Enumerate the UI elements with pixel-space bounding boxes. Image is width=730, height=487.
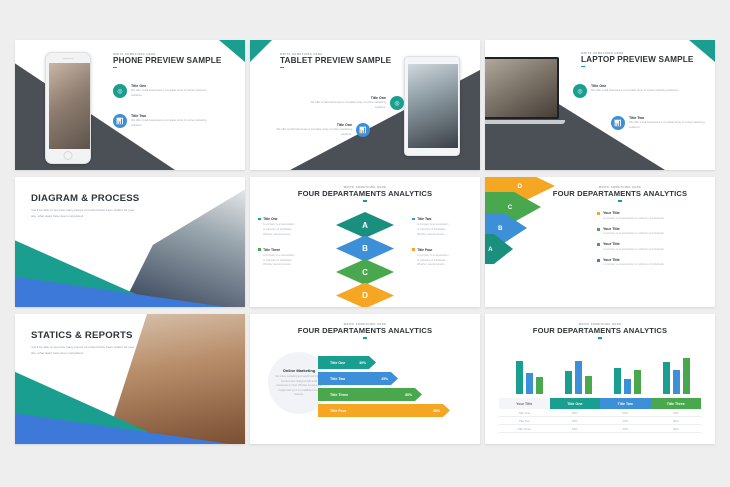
funnel-bar[interactable]: Title Two 45% xyxy=(318,372,398,385)
slide-header: STATICS & REPORTS You'll be able to see … xyxy=(31,330,153,356)
page-title: LAPTOP PREVIEW SAMPLE xyxy=(581,55,694,64)
bar-series-2 xyxy=(673,370,681,394)
table-cell: 50% xyxy=(550,409,601,416)
bullet-line: Whether natural persons. xyxy=(263,263,320,268)
legend-desc: A company is an association or collectio… xyxy=(603,232,664,235)
right-items: Title Two A company is an association or… xyxy=(412,217,474,278)
bar-series-1 xyxy=(663,362,671,394)
bar-value: 45% xyxy=(381,377,388,381)
item-title: Title Two xyxy=(417,217,431,221)
bar-label: Title Three xyxy=(330,393,348,397)
bar-series-2 xyxy=(575,361,583,394)
legend-item[interactable]: Your Title A company is an association o… xyxy=(597,242,705,251)
diamond-d[interactable]: D xyxy=(336,283,394,308)
bar-group xyxy=(516,361,544,394)
photo-woman xyxy=(49,63,90,149)
legend-desc: A company is an association or collectio… xyxy=(603,217,664,220)
table-cell: 30% xyxy=(550,417,601,424)
phone-home-button xyxy=(64,151,73,160)
bar-value: 80% xyxy=(433,409,440,413)
globe-icon: ◎ xyxy=(390,96,404,110)
table-header-cell: Title Two xyxy=(600,398,651,409)
row-label: Title Three xyxy=(499,425,550,432)
feature-desc: We offer small businesses a complete arr… xyxy=(131,119,215,128)
table-cell: 70% xyxy=(651,409,702,416)
slide-header: WRITE SOMETHING HERE PHONE PREVIEW SAMPL… xyxy=(113,53,222,68)
slide-arrows[interactable]: D C B A WRITE SOMETHING HERE FOUR DEPART… xyxy=(485,177,715,307)
slide-diagram-process[interactable]: DIAGRAM & PROCESS You'll be able to see … xyxy=(15,177,245,307)
item-title: Title Three xyxy=(263,248,280,252)
feature-item[interactable]: ◎ Title One We offer small businesses a … xyxy=(113,84,215,98)
globe-icon: ◎ xyxy=(573,84,587,98)
item-body: A company is an association or collectio… xyxy=(412,223,474,238)
feature-title: Title Two xyxy=(131,114,215,118)
accent-underline xyxy=(598,337,602,339)
page-title: FOUR DEPARTAMENTS ANALYTICS xyxy=(250,189,480,198)
slide-tablet-preview[interactable]: WRITE SOMETHING HERE TABLET PREVIEW SAMP… xyxy=(250,40,480,170)
page-title: TABLET PREVIEW SAMPLE xyxy=(280,56,391,65)
feature-title: Title One xyxy=(268,123,352,127)
left-items: Title One A company is an association or… xyxy=(258,217,320,278)
row-label: Title One xyxy=(499,409,550,416)
table-header-row: Your Title Title One Title Two Title Thr… xyxy=(499,398,701,409)
bullet-line: Whether natural persons. xyxy=(263,233,320,238)
feature-item[interactable]: ◎ Title One We offer small businesses a … xyxy=(573,84,685,98)
legend-desc: A company is an association or collectio… xyxy=(603,248,664,251)
table-cell: 40% xyxy=(651,425,702,432)
list-item[interactable]: Title Three A company is an association … xyxy=(258,248,320,269)
tablet-screen xyxy=(408,64,458,148)
teal-corner xyxy=(250,40,272,62)
laptop-base xyxy=(485,120,565,124)
funnel-bar[interactable]: Title Three 60% xyxy=(318,388,422,401)
table-header-cell: Title Three xyxy=(651,398,702,409)
feature-desc: We offer small businesses a complete arr… xyxy=(629,121,709,130)
legend-title: Your Title xyxy=(603,211,664,215)
chart-icon: 📊 xyxy=(113,114,127,128)
phone-mockup xyxy=(45,52,91,164)
bar-label: Title Two xyxy=(330,377,345,381)
photo-man xyxy=(408,64,458,148)
list-item[interactable]: Title Four A company is an association o… xyxy=(412,248,474,269)
slide-header: WRITE SOMETHING HERE FOUR DEPARTAMENTS A… xyxy=(250,323,480,339)
arrow-label: D xyxy=(518,183,522,190)
legend-swatch xyxy=(597,259,600,262)
phone-screen xyxy=(49,63,90,149)
diamond-stack: A B C D xyxy=(336,212,394,306)
page-title: FOUR DEPARTAMENTS ANALYTICS xyxy=(525,189,715,198)
laptop-lid xyxy=(485,57,559,119)
bullet-square xyxy=(412,248,415,251)
funnel-bars: Title One 30% Title Two 45% Title Three … xyxy=(318,356,450,420)
table-row: Title One 50% 50% 70% xyxy=(499,409,701,417)
slide-deck: WRITE SOMETHING HERE PHONE PREVIEW SAMPL… xyxy=(0,0,730,487)
legend-item[interactable]: Your Title A company is an association o… xyxy=(597,258,705,267)
bar-value: 60% xyxy=(405,393,412,397)
table-cell: 30% xyxy=(651,417,702,424)
slide-diamonds[interactable]: WRITE SOMETHING HERE FOUR DEPARTAMENTS A… xyxy=(250,177,480,307)
tablet-mockup xyxy=(404,56,460,156)
legend-title: Your Title xyxy=(603,227,664,231)
bar-series-1 xyxy=(516,361,524,394)
circle-title: Online Marketing xyxy=(283,368,315,373)
laptop-screen xyxy=(485,59,557,117)
bullet-line: Whether natural persons. xyxy=(417,233,474,238)
feature-desc: We offer small businesses a complete arr… xyxy=(131,89,215,98)
table-cell: 60% xyxy=(550,425,601,432)
slide-funnel[interactable]: WRITE SOMETHING HERE FOUR DEPARTAMENTS A… xyxy=(250,314,480,444)
chart-icon: 📊 xyxy=(356,123,370,137)
bar-series-1 xyxy=(614,368,622,394)
page-title: FOUR DEPARTAMENTS ANALYTICS xyxy=(485,326,715,335)
arrow-label: B xyxy=(498,225,502,232)
table-cell: 20% xyxy=(600,417,651,424)
bar-series-3 xyxy=(536,377,544,394)
feature-title: Title One xyxy=(591,84,679,88)
bar-series-2 xyxy=(526,373,534,394)
phone-speaker xyxy=(63,58,74,59)
slide-header: WRITE SOMETHING HERE FOUR DEPARTAMENTS A… xyxy=(485,323,715,339)
accent-underline xyxy=(363,200,367,202)
legend-desc: A company is an association or collectio… xyxy=(603,263,664,266)
feature-title: Title One xyxy=(131,84,215,88)
list-item[interactable]: Title One A company is an association or… xyxy=(258,217,320,238)
bar-label: Title Four xyxy=(330,409,346,413)
table-row: Title Two 30% 20% 30% xyxy=(499,417,701,425)
arrow-label: A xyxy=(488,246,492,253)
accent-underline xyxy=(113,67,117,69)
legend: Your Title A company is an association o… xyxy=(597,211,705,273)
table-header-cell: Your Title xyxy=(499,398,550,409)
body-text: You'll be able to see how many pieces of… xyxy=(31,345,139,356)
circle-body: Our online marketing and search self-cha… xyxy=(275,375,323,397)
bar-group xyxy=(614,368,642,394)
accent-underline xyxy=(581,66,585,68)
funnel-bar[interactable]: Title Four 80% xyxy=(318,404,450,417)
bar-value: 30% xyxy=(359,361,366,365)
legend-title: Your Title xyxy=(603,258,664,262)
data-table: Your Title Title One Title Two Title Thr… xyxy=(499,398,701,433)
diamond-a[interactable]: A xyxy=(336,212,394,238)
laptop-mockup xyxy=(485,57,559,124)
page-title: DIAGRAM & PROCESS xyxy=(31,193,161,204)
legend-item[interactable]: Your Title A company is an association o… xyxy=(597,211,705,220)
page-title: FOUR DEPARTAMENTS ANALYTICS xyxy=(250,326,480,335)
legend-swatch xyxy=(597,228,600,231)
bar-label: Title One xyxy=(330,361,345,365)
item-body: A company is an association or collectio… xyxy=(258,223,320,238)
page-title: STATICS & REPORTS xyxy=(31,330,153,341)
bar-group xyxy=(663,358,691,394)
teal-corner xyxy=(219,40,245,62)
table-cell: 40% xyxy=(600,425,651,432)
bar-series-3 xyxy=(634,370,642,394)
legend-item[interactable]: Your Title A company is an association o… xyxy=(597,227,705,236)
feature-item[interactable]: 📊 Title Two We offer small businesses a … xyxy=(113,114,215,128)
page-title: PHONE PREVIEW SAMPLE xyxy=(113,56,222,65)
slide-statics-reports[interactable]: STATICS & REPORTS You'll be able to see … xyxy=(15,314,245,444)
feature-desc: We offer small businesses a complete arr… xyxy=(302,101,386,110)
slide-bar-chart-table[interactable]: WRITE SOMETHING HERE FOUR DEPARTAMENTS A… xyxy=(485,314,715,444)
bullet-square xyxy=(258,248,261,251)
chart-icon: 📊 xyxy=(611,116,625,130)
bar-series-1 xyxy=(565,371,573,394)
feature-desc: We offer small businesses a complete arr… xyxy=(268,128,352,137)
legend-swatch xyxy=(597,243,600,246)
globe-icon: ◎ xyxy=(113,84,127,98)
slide-header: WRITE SOMETHING HERE TABLET PREVIEW SAMP… xyxy=(280,53,391,68)
accent-underline xyxy=(363,337,367,339)
table-cell: 50% xyxy=(600,409,651,416)
funnel-bar[interactable]: Title One 30% xyxy=(318,356,376,369)
bullet-square xyxy=(412,218,415,221)
grouped-bar-chart xyxy=(505,352,701,394)
row-label: Title Two xyxy=(499,417,550,424)
legend-title: Your Title xyxy=(603,242,664,246)
bar-series-3 xyxy=(683,358,691,394)
bar-group xyxy=(565,361,593,394)
item-title: Title Four xyxy=(417,248,432,252)
slide-phone-preview[interactable]: WRITE SOMETHING HERE PHONE PREVIEW SAMPL… xyxy=(15,40,245,170)
legend-swatch xyxy=(597,212,600,215)
table-header-cell: Title One xyxy=(550,398,601,409)
item-body: A company is an association or collectio… xyxy=(258,254,320,269)
slide-laptop-preview[interactable]: WRITE SOMETHING HERE LAPTOP PREVIEW SAMP… xyxy=(485,40,715,170)
table-row: Title Three 60% 40% 40% xyxy=(499,425,701,433)
feature-title: Title Two xyxy=(629,116,709,120)
accent-underline xyxy=(280,67,284,69)
slide-header: WRITE SOMETHING HERE FOUR DEPARTAMENTS A… xyxy=(525,186,715,202)
bar-series-3 xyxy=(585,376,593,394)
item-title: Title One xyxy=(263,217,277,221)
feature-item[interactable]: 📊 Title Two We offer small businesses a … xyxy=(611,116,709,130)
bullet-square xyxy=(258,218,261,221)
item-body: A company is an association or collectio… xyxy=(412,254,474,269)
bullet-line: Whether natural persons. xyxy=(417,263,474,268)
body-text: You'll be able to see how many pieces of… xyxy=(31,208,139,219)
bar-series-2 xyxy=(624,379,632,394)
slide-header: WRITE SOMETHING HERE FOUR DEPARTAMENTS A… xyxy=(250,186,480,202)
feature-desc: We offer small businesses a complete arr… xyxy=(591,89,679,94)
photo-office xyxy=(485,59,557,117)
accent-underline xyxy=(618,200,622,202)
list-item[interactable]: Title Two A company is an association or… xyxy=(412,217,474,238)
diamond-c[interactable]: C xyxy=(336,259,394,285)
feature-title: Title One xyxy=(302,96,386,100)
slide-header: WRITE SOMETHING HERE LAPTOP PREVIEW SAMP… xyxy=(581,52,694,67)
feature-item[interactable]: 📊 Title One We offer small businesses a … xyxy=(268,123,370,137)
feature-item[interactable]: ◎ Title One We offer small businesses a … xyxy=(302,96,404,110)
slide-header: DIAGRAM & PROCESS You'll be able to see … xyxy=(31,193,161,219)
diamond-b[interactable]: B xyxy=(336,236,394,262)
arrow-label: C xyxy=(508,204,512,211)
